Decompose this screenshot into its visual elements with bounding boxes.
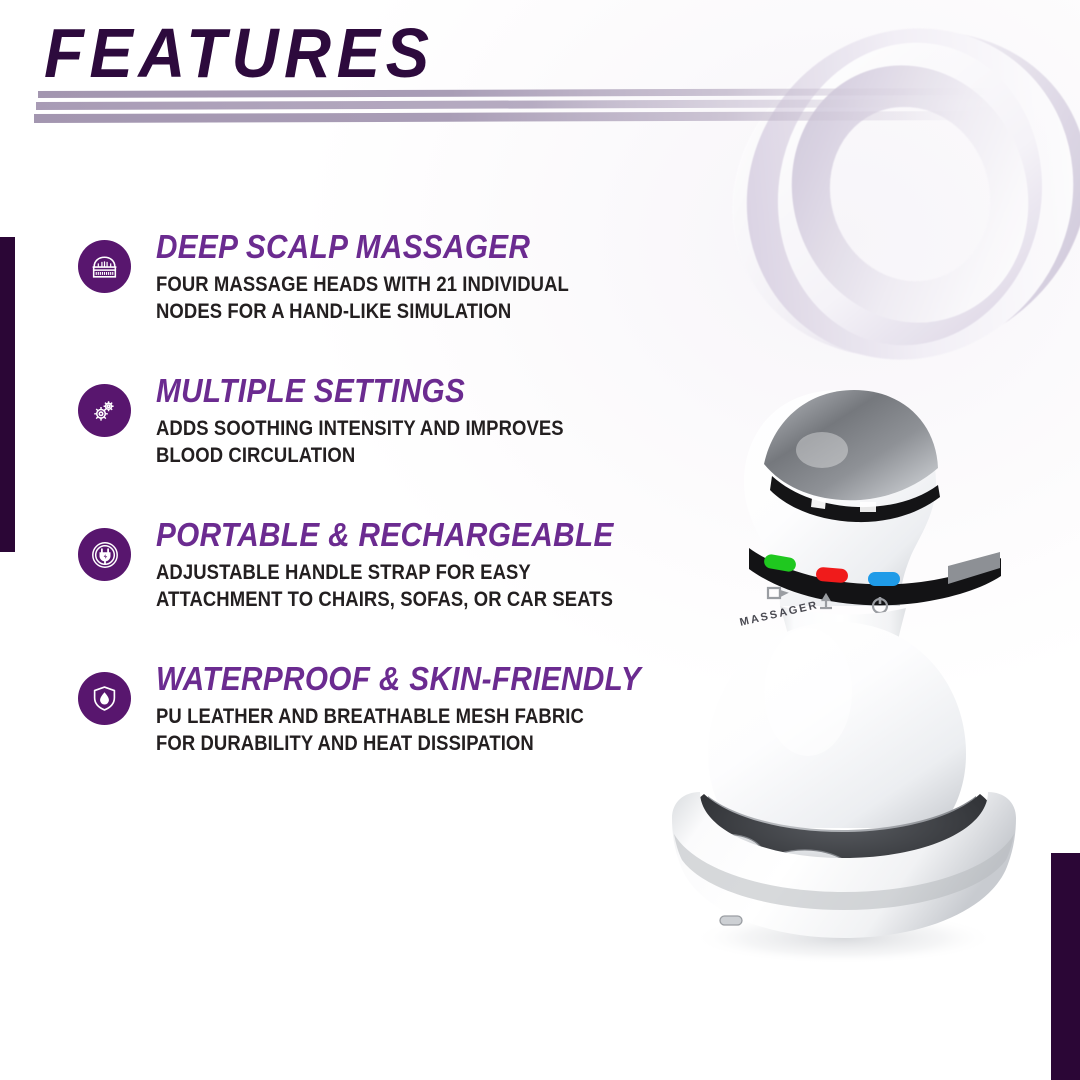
page-title: FEATURES — [44, 18, 528, 88]
feature-description: PU LEATHER AND BREATHABLE MESH FABRIC FO… — [156, 703, 630, 758]
feature-item: PORTABLE & RECHARGEABLE ADJUSTABLE HANDL… — [78, 516, 678, 634]
shield-droplet-icon — [78, 672, 131, 725]
indicator-light-blue — [868, 572, 900, 586]
feature-description-line: NODES FOR A HAND-LIKE SIMULATION — [156, 298, 569, 326]
scalp-massager-icon — [78, 240, 131, 293]
charging-port — [720, 916, 742, 925]
feature-text: MULTIPLE SETTINGS ADDS SOOTHING INTENSIT… — [156, 372, 619, 470]
feature-description-line: ADJUSTABLE HANDLE STRAP FOR EASY — [156, 559, 613, 587]
feature-title: WATERPROOF & SKIN-FRIENDLY — [156, 660, 641, 698]
feature-title: MULTIPLE SETTINGS — [156, 372, 573, 410]
feature-description-line: ADDS SOOTHING INTENSITY AND IMPROVES — [156, 415, 564, 443]
scalp-massager-device — [612, 372, 1062, 972]
feature-description: FOUR MASSAGE HEADS WITH 21 INDIVIDUAL NO… — [156, 271, 569, 326]
product-image: MASSAGER — [612, 372, 1062, 972]
feature-description-line: FOUR MASSAGE HEADS WITH 21 INDIVIDUAL — [156, 271, 569, 299]
gears-icon — [78, 384, 131, 437]
ribbon-decoration-icon — [670, 0, 1080, 434]
feature-item: DEEP SCALP MASSAGER FOUR MASSAGE HEADS W… — [78, 228, 678, 346]
feature-title: DEEP SCALP MASSAGER — [156, 228, 578, 266]
feature-description-line: PU LEATHER AND BREATHABLE MESH FABRIC — [156, 703, 630, 731]
feature-text: DEEP SCALP MASSAGER FOUR MASSAGE HEADS W… — [156, 228, 625, 326]
header: FEATURES — [44, 18, 564, 88]
feature-description: ADJUSTABLE HANDLE STRAP FOR EASY ATTACHM… — [156, 559, 613, 614]
feature-text: PORTABLE & RECHARGEABLE ADJUSTABLE HANDL… — [156, 516, 675, 614]
title-underline-rules — [0, 88, 1022, 128]
feature-item: WATERPROOF & SKIN-FRIENDLY PU LEATHER AN… — [78, 660, 678, 778]
infographic-canvas: FEATURES — [0, 0, 1080, 1080]
feature-item: MULTIPLE SETTINGS ADDS SOOTHING INTENSIT… — [78, 372, 678, 490]
feature-description-line: BLOOD CIRCULATION — [156, 442, 564, 470]
left-accent-bar — [0, 237, 15, 552]
power-plug-icon — [78, 528, 131, 581]
feature-title: PORTABLE & RECHARGEABLE — [156, 516, 623, 554]
feature-description-line: FOR DURABILITY AND HEAT DISSIPATION — [156, 730, 630, 758]
feature-description: ADDS SOOTHING INTENSITY AND IMPROVES BLO… — [156, 415, 564, 470]
feature-description-line: ATTACHMENT TO CHAIRS, SOFAS, OR CAR SEAT… — [156, 586, 613, 614]
feature-list: DEEP SCALP MASSAGER FOUR MASSAGE HEADS W… — [78, 228, 678, 804]
